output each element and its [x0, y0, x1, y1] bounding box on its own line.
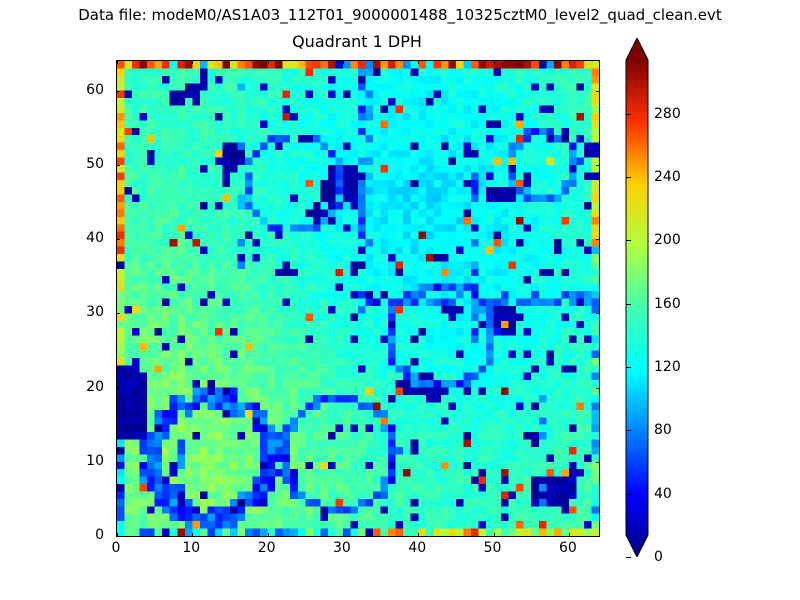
y-tick-label: 40 [0, 230, 104, 246]
heatmap-axes[interactable] [116, 60, 600, 537]
x-tick-mark [569, 60, 570, 64]
x-tick-mark [343, 60, 344, 64]
x-tick-label: 30 [333, 540, 351, 556]
detector-heatmap-image[interactable] [117, 61, 599, 536]
x-tick-mark [192, 533, 193, 537]
y-tick-mark [596, 388, 600, 389]
colorbar-tick-label: 280 [654, 106, 681, 122]
x-tick-label: 0 [112, 540, 121, 556]
x-tick-label: 20 [258, 540, 276, 556]
x-tick-mark [494, 60, 495, 64]
x-tick-mark [343, 533, 344, 537]
x-tick-mark [268, 60, 269, 64]
colorbar-tick-mark [626, 240, 631, 241]
colorbar-tick-label: 200 [654, 232, 681, 248]
y-tick-mark [596, 536, 600, 537]
page-title: Quadrant 1 DPH [116, 32, 598, 51]
colorbar-tick-mark [626, 494, 631, 495]
x-tick-mark [418, 60, 419, 64]
x-tick-mark [192, 60, 193, 64]
colorbar-gradient [624, 38, 650, 557]
x-tick-label: 10 [182, 540, 200, 556]
colorbar-tick-mark [626, 557, 631, 558]
colorbar-tick-label: 80 [654, 422, 672, 438]
x-tick-mark [494, 533, 495, 537]
x-tick-mark [268, 533, 269, 537]
x-tick-label: 50 [484, 540, 502, 556]
y-tick-mark [116, 239, 120, 240]
colorbar-tick-label: 40 [654, 486, 672, 502]
colorbar-tick-label: 120 [654, 359, 681, 375]
y-tick-label: 10 [0, 453, 104, 469]
y-tick-label: 20 [0, 379, 104, 395]
colorbar-tick-label: 160 [654, 296, 681, 312]
y-tick-mark [596, 91, 600, 92]
y-tick-label: 30 [0, 304, 104, 320]
y-tick-mark [116, 462, 120, 463]
x-tick-label: 60 [559, 540, 577, 556]
y-tick-mark [596, 313, 600, 314]
y-tick-mark [116, 165, 120, 166]
y-tick-label: 60 [0, 82, 104, 98]
colorbar-tick-mark [626, 114, 631, 115]
colorbar-tick-mark [626, 304, 631, 305]
y-tick-label: 0 [0, 527, 104, 543]
y-tick-mark [116, 313, 120, 314]
x-tick-mark [117, 60, 118, 64]
y-tick-mark [116, 388, 120, 389]
matplotlib-figure: Data file: modeM0/AS1A03_112T01_90000014… [0, 0, 800, 600]
colorbar-tick-label: 0 [654, 549, 663, 565]
colorbar-tick-mark [626, 177, 631, 178]
colorbar-tick-label: 240 [654, 169, 681, 185]
y-tick-mark [116, 91, 120, 92]
x-tick-label: 40 [408, 540, 426, 556]
y-tick-mark [116, 536, 120, 537]
y-tick-mark [596, 165, 600, 166]
colorbar-tick-mark [626, 430, 631, 431]
x-tick-mark [569, 533, 570, 537]
y-tick-label: 50 [0, 156, 104, 172]
y-tick-mark [596, 462, 600, 463]
x-tick-mark [418, 533, 419, 537]
y-tick-mark [596, 239, 600, 240]
data-file-suptitle: Data file: modeM0/AS1A03_112T01_90000014… [0, 6, 800, 24]
colorbar[interactable] [626, 60, 648, 535]
colorbar-tick-mark [626, 367, 631, 368]
